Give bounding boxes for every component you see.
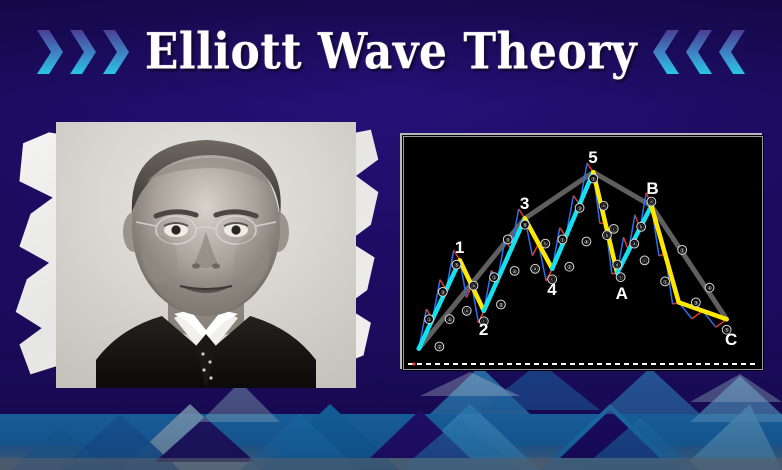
svg-text:②: ② bbox=[437, 344, 442, 351]
svg-text:ⓑ: ⓑ bbox=[471, 282, 477, 290]
svg-text:①: ① bbox=[663, 280, 668, 286]
chevron-right-icon bbox=[68, 27, 98, 77]
portrait-illustration bbox=[56, 122, 356, 388]
svg-text:①: ① bbox=[427, 318, 432, 324]
svg-text:ⓐ: ⓐ bbox=[532, 265, 538, 273]
svg-text:⑤: ⑤ bbox=[522, 223, 527, 229]
chevron-left-icon bbox=[717, 27, 747, 77]
chart-plot-area: ①②③④⑤ⓐⓑⓒ①②③④⑤ⓐⓑⓒ①②③④⑤ⓐⓑⓒⓓⓔⓐⓑⓒⓓ①②③④⑤ 1234… bbox=[406, 139, 760, 367]
svg-text:⑤: ⑤ bbox=[591, 177, 596, 183]
svg-text:ⓒ: ⓒ bbox=[481, 318, 487, 326]
svg-text:ⓒ: ⓒ bbox=[611, 225, 617, 233]
svg-text:③: ③ bbox=[505, 238, 510, 244]
svg-text:ⓐ: ⓐ bbox=[601, 202, 607, 210]
chevron-left-icon bbox=[651, 27, 681, 77]
svg-text:⑤: ⑤ bbox=[724, 328, 729, 334]
svg-text:③: ③ bbox=[440, 290, 445, 296]
left-chevron-group bbox=[35, 27, 131, 77]
svg-text:ⓒ: ⓒ bbox=[642, 257, 648, 265]
svg-text:⑤: ⑤ bbox=[454, 263, 459, 269]
svg-text:ⓑ: ⓑ bbox=[638, 223, 644, 231]
svg-text:ⓐ: ⓐ bbox=[464, 307, 470, 315]
svg-text:ⓐ: ⓐ bbox=[632, 240, 638, 248]
elliott-wave-chart: ①②③④⑤ⓐⓑⓒ①②③④⑤ⓐⓑⓒ①②③④⑤ⓐⓑⓒⓓⓔⓐⓑⓒⓓ①②③④⑤ 1234… bbox=[403, 136, 763, 370]
svg-text:ⓓ: ⓓ bbox=[649, 198, 655, 206]
svg-text:④: ④ bbox=[447, 318, 452, 324]
svg-text:②: ② bbox=[567, 264, 572, 271]
svg-text:ⓔ: ⓔ bbox=[618, 274, 624, 282]
wave-diagram: ①②③④⑤ⓐⓑⓒ①②③④⑤ⓐⓑⓒ①②③④⑤ⓐⓑⓒⓓⓔⓐⓑⓒⓓ①②③④⑤ bbox=[406, 139, 760, 367]
title-band: Elliott Wave Theory bbox=[0, 0, 782, 104]
svg-text:②: ② bbox=[680, 247, 685, 254]
svg-text:④: ④ bbox=[707, 286, 712, 292]
portrait-photo bbox=[12, 116, 382, 388]
svg-text:①: ① bbox=[492, 276, 497, 282]
page-title: Elliott Wave Theory bbox=[145, 23, 637, 80]
chevron-right-icon bbox=[101, 27, 131, 77]
svg-text:③: ③ bbox=[577, 206, 582, 212]
portrait-image bbox=[56, 122, 356, 388]
svg-text:ⓑ: ⓑ bbox=[604, 232, 610, 240]
svg-text:④: ④ bbox=[584, 240, 589, 246]
svg-text:①: ① bbox=[560, 238, 565, 244]
chevron-right-icon bbox=[35, 27, 65, 77]
svg-text:ⓒ: ⓒ bbox=[550, 276, 556, 284]
svg-text:ⓓ: ⓓ bbox=[614, 261, 620, 269]
svg-text:④: ④ bbox=[512, 269, 517, 275]
svg-text:③: ③ bbox=[693, 301, 698, 307]
slide-canvas: Elliott Wave Theory bbox=[0, 0, 782, 470]
right-chevron-group bbox=[651, 27, 747, 77]
svg-text:ⓑ: ⓑ bbox=[543, 240, 549, 248]
svg-text:②: ② bbox=[498, 302, 503, 309]
chevron-left-icon bbox=[684, 27, 714, 77]
